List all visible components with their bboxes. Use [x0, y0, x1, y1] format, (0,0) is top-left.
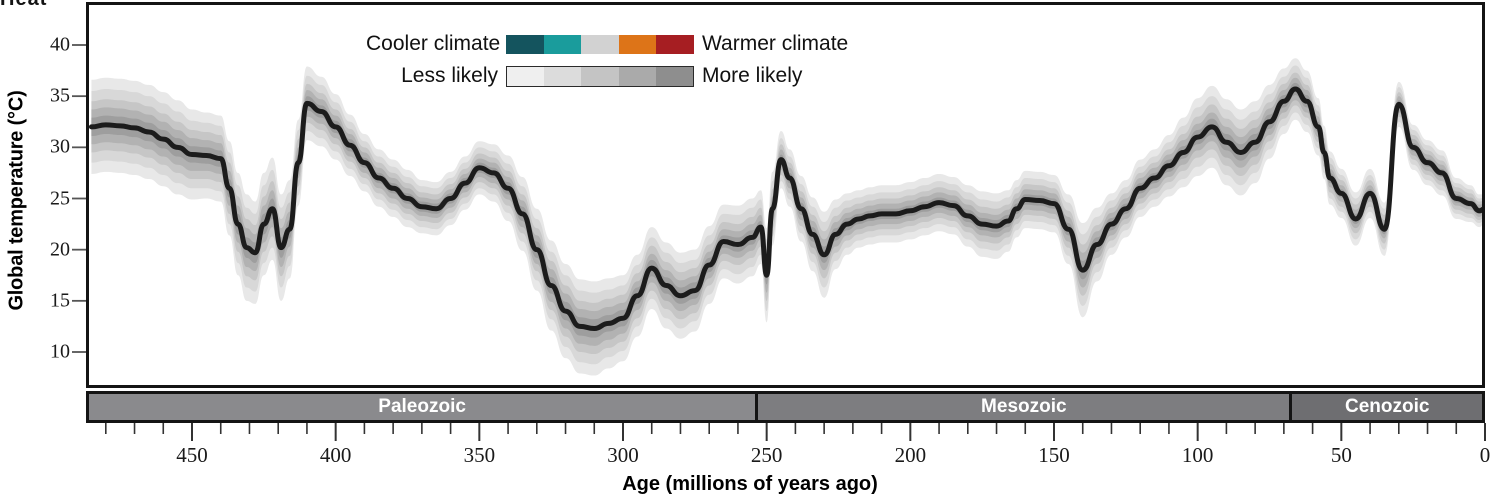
x-tick-label: 250 [751, 443, 783, 468]
climate-swatch-0 [506, 35, 544, 54]
legend-warmer-label: Warmer climate [694, 32, 848, 56]
x-tick-label: 150 [1038, 443, 1070, 468]
likelihood-swatch-4 [656, 67, 693, 86]
x-tick-label: 200 [895, 443, 927, 468]
geologic-era-bar: PaleozoicMesozoicCenozoic [86, 391, 1485, 423]
x-tick-label: 400 [320, 443, 352, 468]
climate-swatch-1 [544, 35, 582, 54]
legend-row-climate: Cooler climate Warmer climate [366, 30, 866, 58]
legend-less-likely-label: Less likely [366, 64, 506, 88]
era-segment-paleozoic: Paleozoic [89, 394, 758, 420]
legend-more-likely-label: More likely [694, 64, 802, 88]
likelihood-swatch-3 [619, 67, 656, 86]
climate-swatch-4 [656, 35, 694, 54]
chart-root: Heat Global temperature (°C) 10152025303… [0, 0, 1500, 500]
x-tick-label: 100 [1182, 443, 1214, 468]
climate-swatch-2 [581, 35, 619, 54]
climate-swatch-3 [619, 35, 657, 54]
era-segment-mesozoic: Mesozoic [758, 394, 1292, 420]
likelihood-swatch-1 [544, 67, 581, 86]
x-tick-label: 350 [464, 443, 496, 468]
y-tick-label: 40 [30, 34, 70, 57]
y-tick-label: 35 [30, 85, 70, 108]
legend-cooler-label: Cooler climate [366, 32, 506, 56]
y-tick-label: 20 [30, 238, 70, 261]
era-segment-cenozoic: Cenozoic [1292, 394, 1482, 420]
legend-row-likelihood: Less likely More likely [366, 62, 866, 90]
x-axis-tick-labels: 450400350300250200150100500 [0, 443, 1500, 473]
x-tick-label: 450 [176, 443, 208, 468]
x-tick-label: 300 [607, 443, 639, 468]
y-tick-label: 30 [30, 136, 70, 159]
x-axis-title: Age (millions of years ago) [0, 473, 1500, 496]
y-tick-label: 15 [30, 289, 70, 312]
y-axis-tick-labels: 10152025303540 [24, 0, 70, 400]
era-label: Paleozoic [378, 396, 466, 418]
likelihood-swatch-0 [507, 67, 544, 86]
x-tick-label: 50 [1331, 443, 1352, 468]
era-label: Cenozoic [1345, 396, 1429, 418]
y-tick-label: 10 [30, 341, 70, 364]
legend-likelihood-colorbar [506, 66, 694, 87]
y-tick-label: 25 [30, 187, 70, 210]
chart-legend: Cooler climate Warmer climate Less likel… [366, 30, 866, 94]
likelihood-swatch-2 [581, 67, 618, 86]
era-label: Mesozoic [981, 396, 1067, 418]
x-tick-label: 0 [1480, 443, 1491, 468]
legend-climate-colorbar [506, 35, 694, 54]
